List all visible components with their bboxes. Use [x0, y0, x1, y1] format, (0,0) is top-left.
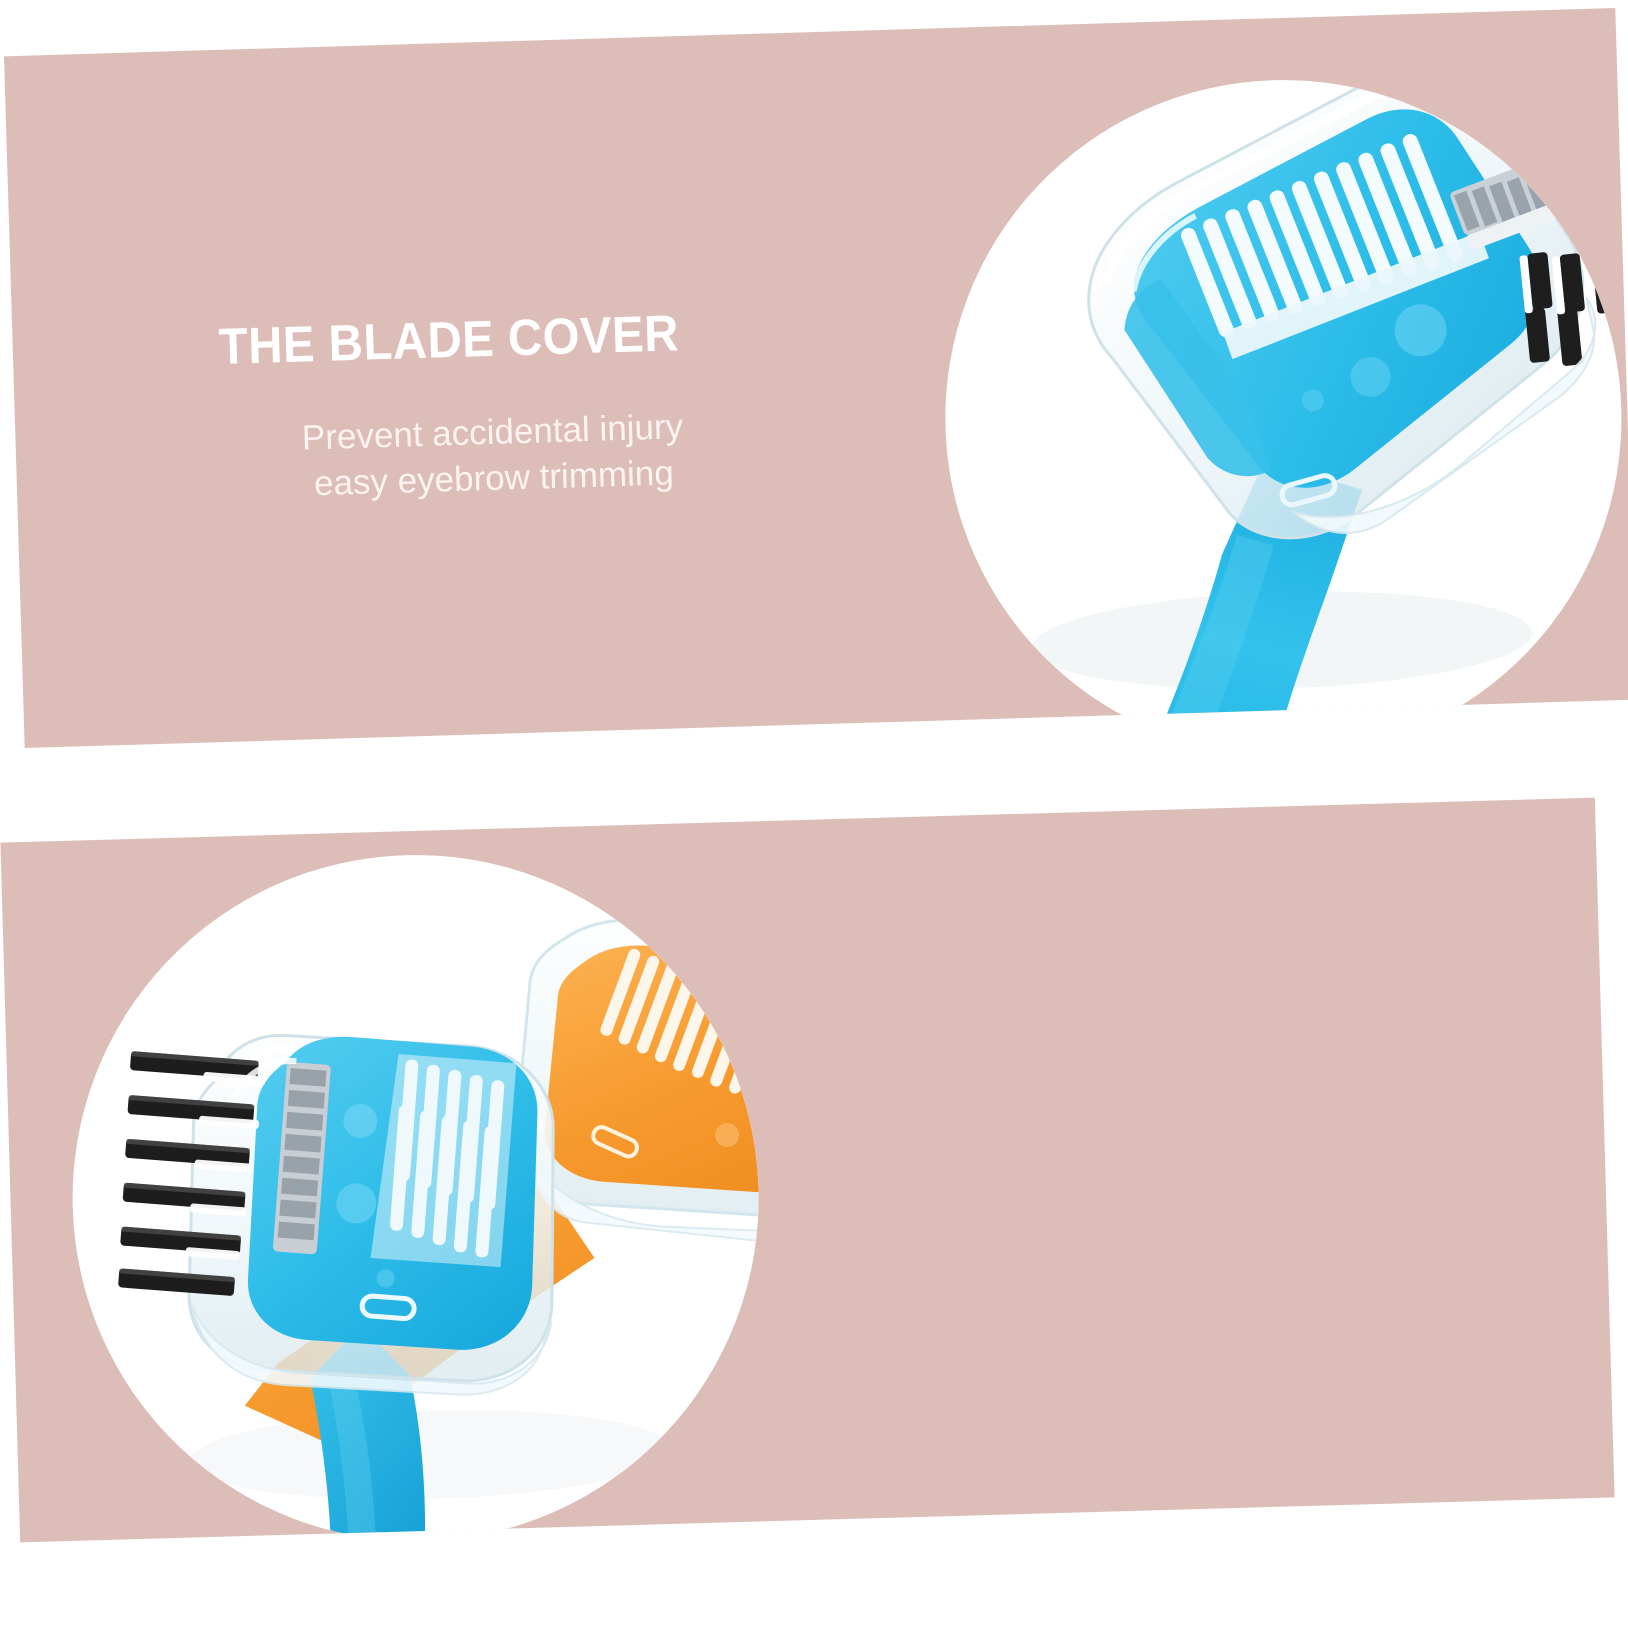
blade-cover-photo [935, 70, 1628, 748]
feature-panel-cutter-head: INNOVATIVE CUTTER HEAD Strong and durabl… [0, 798, 1614, 1543]
cutter-head-photo [63, 846, 768, 1543]
banner-canvas: THE BLADE COVER Prevent accidental injur… [0, 0, 1628, 1628]
blade-cover-text-block: THE BLADE COVER Prevent accidental injur… [218, 302, 823, 509]
panel-headline: THE BLADE COVER [218, 303, 777, 374]
panel-subline: Prevent accidental injury easy eyebrow t… [267, 403, 720, 507]
feature-panel-blade-cover: THE BLADE COVER Prevent accidental injur… [4, 8, 1628, 748]
